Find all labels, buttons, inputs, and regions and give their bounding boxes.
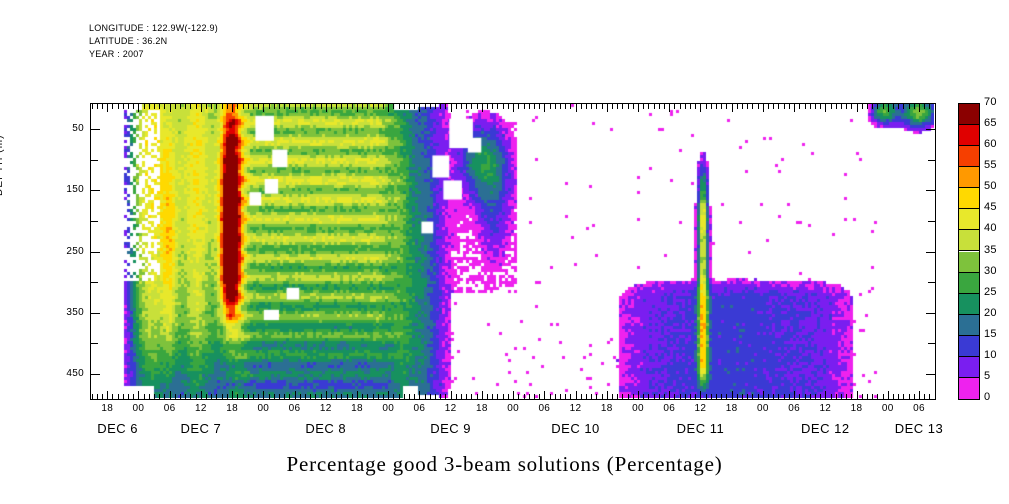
x-tick-minor bbox=[97, 394, 98, 399]
heatmap-canvas bbox=[91, 104, 934, 398]
x-axis-day-label: DEC 9 bbox=[396, 421, 506, 436]
x-tick-minor bbox=[602, 394, 603, 399]
x-tick-minor-top bbox=[347, 104, 348, 109]
x-tick-minor bbox=[784, 394, 785, 399]
x-tick-minor-top bbox=[539, 104, 540, 109]
x-tick-minor-top bbox=[591, 104, 592, 109]
x-tick-minor bbox=[591, 394, 592, 399]
x-tick-major bbox=[513, 391, 514, 399]
metadata-latitude: LATITUDE : 36.2N bbox=[89, 36, 167, 48]
x-tick-minor-top bbox=[175, 104, 176, 109]
x-tick-minor bbox=[820, 394, 821, 399]
x-tick-minor-top bbox=[596, 104, 597, 109]
x-tick-minor bbox=[378, 394, 379, 399]
figure-root: LONGITUDE : 122.9W(-122.9) LATITUDE : 36… bbox=[0, 0, 1009, 504]
x-tick-minor bbox=[846, 394, 847, 399]
x-tick-minor-top bbox=[404, 104, 405, 109]
x-tick-minor-top bbox=[321, 104, 322, 109]
x-tick-minor-top bbox=[253, 104, 254, 109]
x-tick-minor bbox=[196, 394, 197, 399]
x-tick-minor-top bbox=[924, 104, 925, 109]
x-tick-minor-top bbox=[284, 104, 285, 109]
y-axis-label: 350 bbox=[38, 307, 84, 318]
x-tick-minor-top bbox=[508, 104, 509, 109]
x-tick-major bbox=[794, 391, 795, 399]
y-tick-minor-right bbox=[928, 160, 935, 161]
x-tick-minor-top bbox=[461, 104, 462, 109]
x-axis-hour-label: 12 bbox=[685, 403, 715, 414]
x-tick-minor-top bbox=[92, 104, 93, 109]
x-tick-minor bbox=[883, 394, 884, 399]
x-tick-minor-top bbox=[341, 104, 342, 109]
y-axis-label: 450 bbox=[38, 368, 84, 379]
x-tick-major-top bbox=[295, 104, 296, 112]
x-tick-minor-top bbox=[492, 104, 493, 109]
x-tick-major-top bbox=[700, 104, 701, 112]
x-tick-minor bbox=[508, 394, 509, 399]
x-tick-minor-top bbox=[300, 104, 301, 109]
x-tick-minor-top bbox=[336, 104, 337, 109]
x-axis-hour-label: 00 bbox=[873, 403, 903, 414]
x-tick-minor bbox=[742, 394, 743, 399]
x-tick-minor-top bbox=[685, 104, 686, 109]
x-tick-minor-top bbox=[524, 104, 525, 109]
x-tick-minor bbox=[747, 394, 748, 399]
x-tick-minor-top bbox=[227, 104, 228, 109]
x-tick-minor bbox=[164, 394, 165, 399]
y-tick-minor bbox=[91, 282, 98, 283]
x-axis-hour-label: 12 bbox=[186, 403, 216, 414]
x-tick-minor bbox=[461, 394, 462, 399]
x-tick-major bbox=[544, 391, 545, 399]
x-tick-minor bbox=[737, 394, 738, 399]
x-axis-hour-label: 18 bbox=[592, 403, 622, 414]
x-tick-minor-top bbox=[180, 104, 181, 109]
x-tick-minor bbox=[216, 394, 217, 399]
x-tick-minor bbox=[841, 394, 842, 399]
x-tick-minor-top bbox=[487, 104, 488, 109]
x-tick-minor bbox=[393, 394, 394, 399]
x-tick-minor bbox=[456, 394, 457, 399]
x-tick-minor-top bbox=[211, 104, 212, 109]
x-axis-hour-label: 06 bbox=[654, 403, 684, 414]
x-tick-minor-top bbox=[440, 104, 441, 109]
x-tick-major-top bbox=[107, 104, 108, 112]
x-tick-minor-top bbox=[872, 104, 873, 109]
colorbar-tick-label: 40 bbox=[984, 222, 997, 234]
x-tick-minor-top bbox=[581, 104, 582, 109]
x-tick-minor-top bbox=[409, 104, 410, 109]
x-tick-minor-top bbox=[726, 104, 727, 109]
x-tick-minor bbox=[118, 394, 119, 399]
x-axis-hour-label: 12 bbox=[311, 403, 341, 414]
x-tick-minor bbox=[680, 394, 681, 399]
x-tick-minor bbox=[805, 394, 806, 399]
x-axis-hour-label: 18 bbox=[717, 403, 747, 414]
colorbar-band bbox=[959, 294, 979, 315]
x-tick-minor-top bbox=[867, 104, 868, 109]
x-tick-minor-top bbox=[315, 104, 316, 109]
colorbar-band bbox=[959, 209, 979, 230]
x-tick-minor-top bbox=[310, 104, 311, 109]
x-tick-minor-top bbox=[560, 104, 561, 109]
x-tick-major bbox=[638, 391, 639, 399]
colorbar-tick-label: 55 bbox=[984, 159, 997, 171]
x-tick-minor bbox=[503, 394, 504, 399]
x-tick-major bbox=[263, 391, 264, 399]
y-tick-minor-right bbox=[928, 282, 935, 283]
x-tick-major bbox=[482, 391, 483, 399]
colorbar-band bbox=[959, 336, 979, 357]
x-tick-minor-top bbox=[466, 104, 467, 109]
x-tick-major-top bbox=[919, 104, 920, 112]
x-tick-minor-top bbox=[190, 104, 191, 109]
x-tick-minor-top bbox=[836, 104, 837, 109]
x-tick-minor-top bbox=[851, 104, 852, 109]
x-tick-minor bbox=[903, 394, 904, 399]
x-tick-minor-top bbox=[612, 104, 613, 109]
x-tick-minor bbox=[190, 394, 191, 399]
y-axis-title: DEPTH (m) bbox=[0, 134, 5, 196]
x-tick-minor bbox=[336, 394, 337, 399]
x-tick-minor bbox=[331, 394, 332, 399]
x-tick-minor-top bbox=[305, 104, 306, 109]
y-tick-major bbox=[91, 252, 100, 253]
x-tick-minor-top bbox=[352, 104, 353, 109]
x-tick-minor-top bbox=[164, 104, 165, 109]
x-tick-major bbox=[232, 391, 233, 399]
y-tick-minor bbox=[91, 221, 98, 222]
x-tick-minor bbox=[159, 394, 160, 399]
x-axis-hour-label: 00 bbox=[248, 403, 278, 414]
x-tick-major-top bbox=[544, 104, 545, 112]
x-tick-minor-top bbox=[97, 104, 98, 109]
x-tick-minor-top bbox=[841, 104, 842, 109]
x-tick-minor bbox=[243, 394, 244, 399]
x-tick-minor bbox=[445, 394, 446, 399]
x-tick-minor bbox=[659, 394, 660, 399]
x-tick-minor bbox=[300, 394, 301, 399]
x-tick-minor-top bbox=[123, 104, 124, 109]
x-tick-minor bbox=[92, 394, 93, 399]
x-tick-minor bbox=[909, 394, 910, 399]
x-tick-minor-top bbox=[659, 104, 660, 109]
x-tick-minor-top bbox=[435, 104, 436, 109]
colorbar-tick-label: 25 bbox=[984, 286, 997, 298]
x-tick-minor-top bbox=[399, 104, 400, 109]
x-axis-hour-label: 06 bbox=[155, 403, 185, 414]
x-tick-minor bbox=[321, 394, 322, 399]
x-tick-minor bbox=[362, 394, 363, 399]
x-tick-major bbox=[388, 391, 389, 399]
x-tick-minor bbox=[935, 394, 936, 399]
x-tick-minor bbox=[518, 394, 519, 399]
x-tick-minor-top bbox=[112, 104, 113, 109]
x-tick-minor bbox=[133, 394, 134, 399]
x-tick-minor-top bbox=[820, 104, 821, 109]
x-tick-minor bbox=[440, 394, 441, 399]
x-tick-minor-top bbox=[602, 104, 603, 109]
x-tick-minor-top bbox=[898, 104, 899, 109]
x-tick-minor bbox=[237, 394, 238, 399]
colorbar-band bbox=[959, 188, 979, 209]
colorbar-tick-label: 50 bbox=[984, 180, 997, 192]
x-axis-hour-label: 00 bbox=[623, 403, 653, 414]
x-axis-hour-label: 12 bbox=[810, 403, 840, 414]
y-axis-label: 150 bbox=[38, 184, 84, 195]
x-tick-minor-top bbox=[586, 104, 587, 109]
x-tick-major bbox=[326, 391, 327, 399]
x-axis-hour-label: 18 bbox=[92, 403, 122, 414]
x-tick-minor-top bbox=[773, 104, 774, 109]
x-tick-minor bbox=[305, 394, 306, 399]
x-tick-minor bbox=[877, 394, 878, 399]
x-tick-minor-top bbox=[643, 104, 644, 109]
x-tick-minor-top bbox=[149, 104, 150, 109]
y-tick-major-right bbox=[926, 129, 935, 130]
x-axis-hour-label: 12 bbox=[436, 403, 466, 414]
y-tick-minor-right bbox=[928, 343, 935, 344]
x-tick-minor bbox=[185, 394, 186, 399]
x-axis-hour-label: 00 bbox=[498, 403, 528, 414]
x-tick-major-top bbox=[419, 104, 420, 112]
colorbar-band bbox=[959, 230, 979, 251]
metadata-longitude: LONGITUDE : 122.9W(-122.9) bbox=[89, 23, 218, 35]
x-tick-minor-top bbox=[414, 104, 415, 109]
y-tick-minor-right bbox=[928, 221, 935, 222]
x-tick-major-top bbox=[138, 104, 139, 112]
x-tick-minor-top bbox=[258, 104, 259, 109]
x-tick-minor-top bbox=[378, 104, 379, 109]
x-tick-minor-top bbox=[279, 104, 280, 109]
colorbar-band bbox=[959, 125, 979, 146]
x-tick-minor bbox=[815, 394, 816, 399]
x-tick-major-top bbox=[232, 104, 233, 112]
x-tick-minor bbox=[435, 394, 436, 399]
x-tick-minor-top bbox=[815, 104, 816, 109]
x-axis-hour-label: 18 bbox=[467, 403, 497, 414]
x-tick-minor-top bbox=[935, 104, 936, 109]
x-tick-major-top bbox=[794, 104, 795, 112]
x-tick-major-top bbox=[201, 104, 202, 112]
x-tick-minor bbox=[409, 394, 410, 399]
colorbar-tick-label: 70 bbox=[984, 96, 997, 108]
x-tick-major-top bbox=[451, 104, 452, 112]
x-tick-minor-top bbox=[805, 104, 806, 109]
x-tick-minor-top bbox=[628, 104, 629, 109]
x-tick-minor bbox=[112, 394, 113, 399]
x-tick-minor bbox=[284, 394, 285, 399]
x-axis-hour-label: 18 bbox=[217, 403, 247, 414]
x-tick-major-top bbox=[669, 104, 670, 112]
colorbar-tick-label: 20 bbox=[984, 307, 997, 319]
x-tick-minor bbox=[102, 394, 103, 399]
x-tick-minor bbox=[778, 394, 779, 399]
x-tick-major bbox=[451, 391, 452, 399]
x-tick-minor bbox=[711, 394, 712, 399]
x-tick-major-top bbox=[388, 104, 389, 112]
x-axis-day-label: DEC 8 bbox=[271, 421, 381, 436]
colorbar-tick-label: 30 bbox=[984, 265, 997, 277]
x-tick-minor bbox=[274, 394, 275, 399]
x-tick-major bbox=[732, 391, 733, 399]
x-tick-major-top bbox=[888, 104, 889, 112]
x-tick-minor bbox=[664, 394, 665, 399]
x-tick-major bbox=[825, 391, 826, 399]
y-tick-major-right bbox=[926, 313, 935, 314]
x-tick-minor bbox=[534, 394, 535, 399]
colorbar bbox=[958, 103, 980, 400]
x-tick-minor-top bbox=[784, 104, 785, 109]
x-tick-minor-top bbox=[622, 104, 623, 109]
x-tick-minor bbox=[721, 394, 722, 399]
x-tick-minor bbox=[144, 394, 145, 399]
x-tick-minor-top bbox=[742, 104, 743, 109]
x-tick-minor bbox=[367, 394, 368, 399]
x-tick-minor-top bbox=[862, 104, 863, 109]
x-axis-day-label: DEC 10 bbox=[521, 421, 631, 436]
x-tick-minor bbox=[180, 394, 181, 399]
x-tick-minor bbox=[643, 394, 644, 399]
x-tick-minor bbox=[867, 394, 868, 399]
colorbar-tick-label: 5 bbox=[984, 370, 990, 382]
x-tick-minor bbox=[836, 394, 837, 399]
figure-title: Percentage good 3-beam solutions (Percen… bbox=[0, 452, 1009, 477]
x-tick-major-top bbox=[607, 104, 608, 112]
x-tick-minor bbox=[773, 394, 774, 399]
x-tick-minor bbox=[352, 394, 353, 399]
x-tick-minor bbox=[414, 394, 415, 399]
x-axis-day-label: DEC 7 bbox=[146, 421, 256, 436]
x-tick-minor bbox=[596, 394, 597, 399]
x-tick-minor-top bbox=[690, 104, 691, 109]
x-tick-major bbox=[857, 391, 858, 399]
x-tick-minor bbox=[227, 394, 228, 399]
x-tick-minor-top bbox=[222, 104, 223, 109]
y-tick-major bbox=[91, 374, 100, 375]
x-tick-minor bbox=[289, 394, 290, 399]
x-tick-minor bbox=[752, 394, 753, 399]
x-tick-major bbox=[607, 391, 608, 399]
x-tick-minor bbox=[154, 394, 155, 399]
x-tick-minor-top bbox=[893, 104, 894, 109]
x-tick-minor-top bbox=[716, 104, 717, 109]
x-tick-minor bbox=[550, 394, 551, 399]
x-tick-minor-top bbox=[196, 104, 197, 109]
x-tick-minor bbox=[310, 394, 311, 399]
x-tick-minor bbox=[123, 394, 124, 399]
x-axis-hour-label: 00 bbox=[748, 403, 778, 414]
y-tick-major bbox=[91, 190, 100, 191]
x-tick-major-top bbox=[763, 104, 764, 112]
x-tick-minor bbox=[929, 394, 930, 399]
x-tick-minor-top bbox=[747, 104, 748, 109]
x-tick-minor-top bbox=[445, 104, 446, 109]
x-tick-minor-top bbox=[248, 104, 249, 109]
x-tick-minor bbox=[789, 394, 790, 399]
x-tick-minor-top bbox=[154, 104, 155, 109]
x-tick-minor bbox=[492, 394, 493, 399]
x-tick-minor-top bbox=[695, 104, 696, 109]
y-tick-minor bbox=[91, 160, 98, 161]
x-tick-minor bbox=[716, 394, 717, 399]
colorbar-band bbox=[959, 104, 979, 125]
colorbar-band bbox=[959, 378, 979, 399]
x-tick-minor-top bbox=[289, 104, 290, 109]
x-tick-minor bbox=[622, 394, 623, 399]
colorbar-tick-label: 0 bbox=[984, 391, 990, 403]
x-tick-major bbox=[138, 391, 139, 399]
x-tick-minor-top bbox=[367, 104, 368, 109]
x-tick-major-top bbox=[638, 104, 639, 112]
x-tick-minor-top bbox=[909, 104, 910, 109]
colorbar-band bbox=[959, 273, 979, 294]
x-tick-minor-top bbox=[768, 104, 769, 109]
x-tick-minor-top bbox=[555, 104, 556, 109]
x-tick-major-top bbox=[357, 104, 358, 112]
x-tick-minor-top bbox=[471, 104, 472, 109]
x-tick-minor bbox=[315, 394, 316, 399]
x-axis-hour-label: 06 bbox=[404, 403, 434, 414]
x-tick-minor bbox=[425, 394, 426, 399]
x-tick-minor bbox=[914, 394, 915, 399]
x-tick-minor bbox=[898, 394, 899, 399]
x-tick-minor bbox=[831, 394, 832, 399]
x-tick-minor bbox=[810, 394, 811, 399]
x-tick-minor bbox=[862, 394, 863, 399]
x-tick-minor-top bbox=[128, 104, 129, 109]
x-tick-minor-top bbox=[903, 104, 904, 109]
x-axis-hour-label: 06 bbox=[280, 403, 310, 414]
x-tick-major bbox=[295, 391, 296, 399]
x-tick-minor-top bbox=[550, 104, 551, 109]
x-tick-major bbox=[888, 391, 889, 399]
x-tick-minor bbox=[612, 394, 613, 399]
x-tick-minor-top bbox=[565, 104, 566, 109]
x-axis-hour-label: 00 bbox=[373, 403, 403, 414]
x-tick-minor bbox=[654, 394, 655, 399]
x-tick-minor bbox=[726, 394, 727, 399]
x-tick-minor-top bbox=[331, 104, 332, 109]
x-tick-major-top bbox=[326, 104, 327, 112]
x-tick-minor-top bbox=[534, 104, 535, 109]
colorbar-tick-label: 35 bbox=[984, 244, 997, 256]
x-tick-minor-top bbox=[144, 104, 145, 109]
x-tick-minor-top bbox=[758, 104, 759, 109]
x-tick-minor bbox=[269, 394, 270, 399]
x-tick-minor bbox=[175, 394, 176, 399]
colorbar-tick-label: 15 bbox=[984, 328, 997, 340]
y-tick-major-right bbox=[926, 190, 935, 191]
x-tick-major bbox=[170, 391, 171, 399]
x-tick-minor bbox=[253, 394, 254, 399]
x-tick-minor-top bbox=[185, 104, 186, 109]
x-tick-major bbox=[763, 391, 764, 399]
x-tick-minor bbox=[581, 394, 582, 399]
x-tick-major-top bbox=[857, 104, 858, 112]
x-tick-minor-top bbox=[831, 104, 832, 109]
x-tick-minor-top bbox=[664, 104, 665, 109]
x-tick-minor-top bbox=[518, 104, 519, 109]
x-tick-minor bbox=[404, 394, 405, 399]
x-tick-minor-top bbox=[617, 104, 618, 109]
x-tick-minor bbox=[497, 394, 498, 399]
x-tick-minor-top bbox=[648, 104, 649, 109]
plot-area bbox=[90, 103, 936, 400]
colorbar-tick-label: 60 bbox=[984, 138, 997, 150]
x-tick-major-top bbox=[170, 104, 171, 112]
x-tick-minor bbox=[851, 394, 852, 399]
